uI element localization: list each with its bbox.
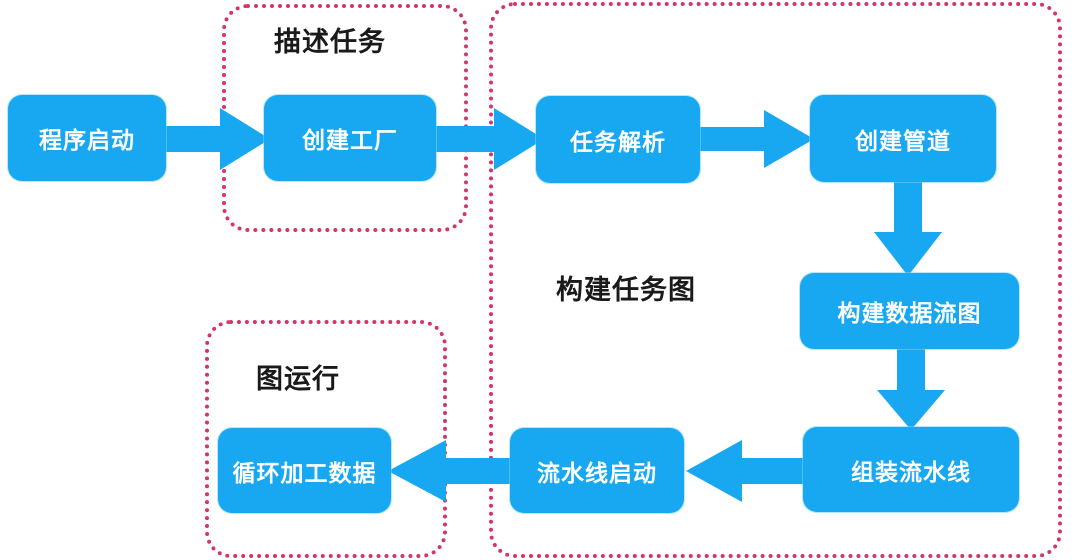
group-label-describe-task: 描述任务 (274, 20, 386, 59)
arrow-program-start-to-create-factory (158, 108, 270, 170)
node-create-factory[interactable]: 创建工厂 (264, 95, 436, 181)
node-task-parse[interactable]: 任务解析 (536, 96, 700, 183)
group-label-build-task-graph: 构建任务图 (556, 268, 696, 307)
node-program-start[interactable]: 程序启动 (8, 95, 166, 181)
node-build-dataflow[interactable]: 构建数据流图 (800, 273, 1019, 349)
node-pipeline-start[interactable]: 流水线启动 (510, 428, 684, 513)
node-assemble-line[interactable]: 组装流水线 (803, 427, 1019, 512)
arrow-task-parse-to-create-pipeline (698, 110, 814, 168)
node-loop-process[interactable]: 循环加工数据 (218, 428, 391, 513)
node-create-pipeline[interactable]: 创建管道 (810, 95, 996, 182)
arrow-build-dataflow-to-assemble-line (877, 346, 945, 430)
arrow-create-factory-to-task-parse (434, 108, 544, 170)
arrow-assemble-line-to-pipeline-start (686, 440, 808, 502)
group-label-graph-run: 图运行 (256, 357, 340, 396)
arrow-pipeline-start-to-loop-process (388, 440, 514, 502)
flowchart-canvas: 描述任务 构建任务图 图运行 (0, 0, 1080, 560)
arrow-create-pipeline-to-build-dataflow (874, 180, 942, 276)
